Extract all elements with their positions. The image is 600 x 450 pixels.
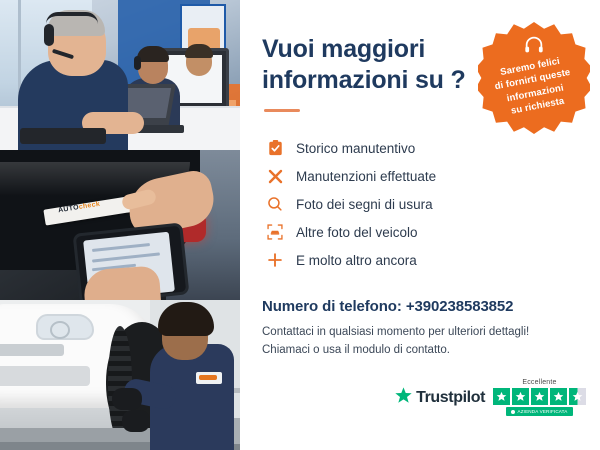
promo-banner: AUTOcheck — [0, 0, 600, 450]
call-center-photo — [0, 0, 240, 150]
feature-label: Storico manutentivo — [296, 141, 415, 156]
contact-paragraph: Contattaci in qualsiasi momento per ulte… — [262, 324, 578, 360]
phone-line: Numero di telefono: +390238583852 — [262, 298, 578, 315]
title-divider — [264, 109, 300, 112]
feature-list: Storico manutentivo Manutenzioni effettu… — [262, 134, 578, 274]
rating-label: Eccellente — [522, 379, 556, 386]
trustpilot-brand: Trustpilot — [395, 387, 485, 409]
star-4 — [550, 388, 567, 405]
magnifier-icon — [262, 196, 288, 212]
verified-badge: AZIENDA VERIFICATA — [506, 407, 572, 416]
photo-strip: AUTOcheck — [0, 0, 240, 450]
trustpilot-widget[interactable]: Trustpilot Eccellente — [395, 379, 586, 416]
trustpilot-name: Trustpilot — [416, 389, 485, 407]
star-2 — [512, 388, 529, 405]
paragraph-line-1: Contattaci in qualsiasi momento per ulte… — [262, 324, 578, 342]
feature-item-foto-usura: Foto dei segni di usura — [262, 190, 578, 218]
star-3 — [531, 388, 548, 405]
car-frame-icon — [262, 224, 288, 240]
star-1 — [493, 388, 510, 405]
feature-item-storico: Storico manutentivo — [262, 134, 578, 162]
plus-icon — [262, 252, 288, 268]
feature-label: E molto altro ancora — [296, 253, 417, 268]
sticker-tablet-photo: AUTOcheck — [0, 150, 240, 300]
feature-item-altro-ancora: E molto altro ancora — [262, 246, 578, 274]
tools-cross-icon — [262, 168, 288, 185]
content-panel: Saremo felici di fornirti queste informa… — [240, 0, 600, 450]
phone-number[interactable]: +390238583852 — [406, 298, 514, 315]
verified-label: AZIENDA VERIFICATA — [517, 409, 567, 414]
star-5 — [569, 388, 586, 405]
feature-item-manutenzioni: Manutenzioni effettuate — [262, 162, 578, 190]
headset-icon — [524, 36, 544, 59]
feature-label: Manutenzioni effettuate — [296, 169, 436, 184]
paragraph-line-2: Chiamaci o usa il modulo di contatto. — [262, 342, 578, 360]
trustpilot-star-icon — [395, 387, 412, 409]
star-rating — [493, 388, 586, 405]
mechanic-wheel-photo — [0, 300, 240, 450]
feature-label: Foto dei segni di usura — [296, 197, 433, 212]
feature-item-altre-foto: Altre foto del veicolo — [262, 218, 578, 246]
clipboard-check-icon — [262, 140, 288, 156]
feature-label: Altre foto del veicolo — [296, 225, 418, 240]
callout-badge: Saremo felici di fornirti queste informa… — [478, 22, 590, 134]
phone-label: Numero di telefono: — [262, 298, 402, 315]
trustpilot-rating: Eccellente — [493, 379, 586, 416]
